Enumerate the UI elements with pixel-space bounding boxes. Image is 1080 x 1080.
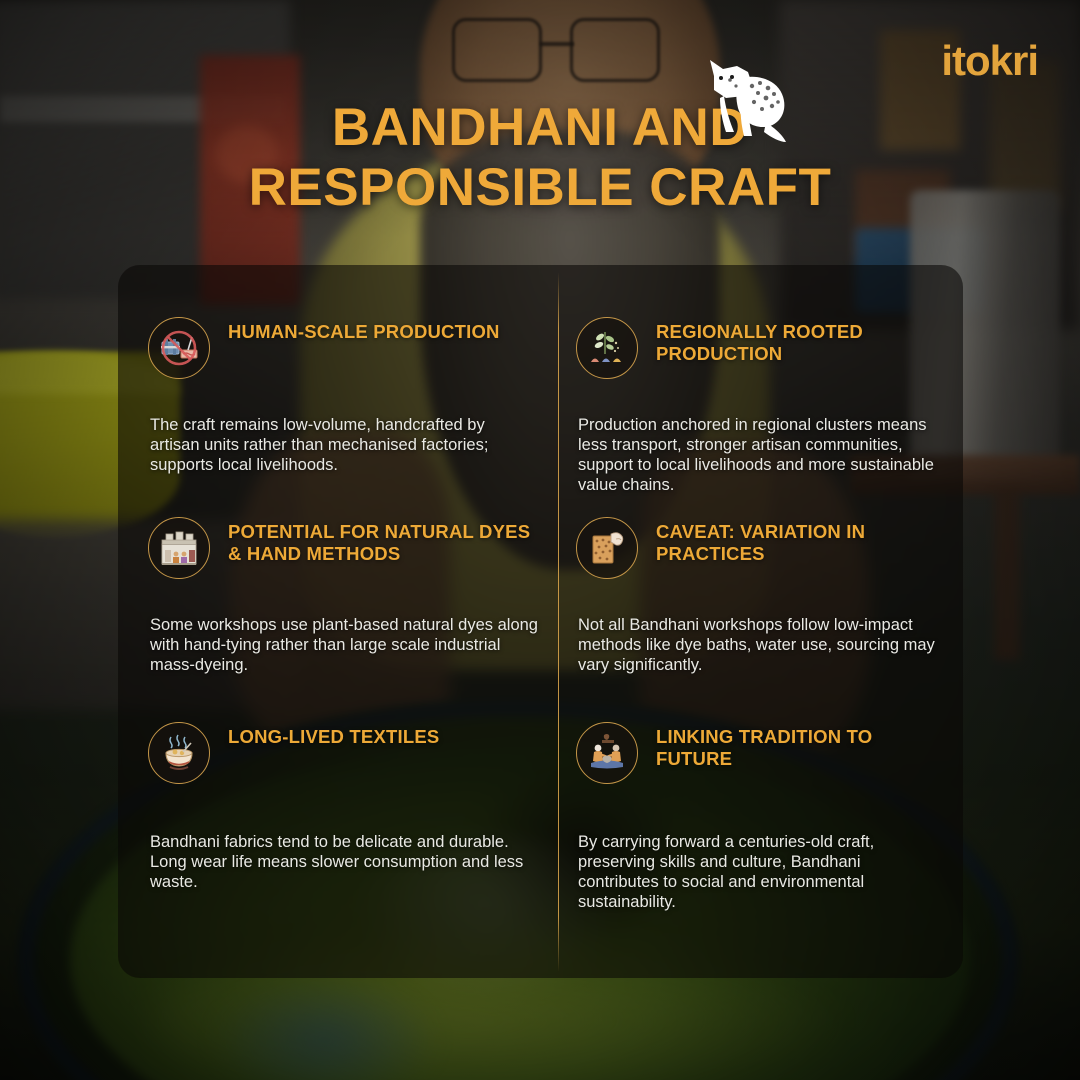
card-body: Some workshops use plant-based natural d… [150, 615, 538, 675]
benefits-grid: HUMAN-SCALE PRODUCTION The craft remains… [118, 265, 963, 978]
steaming-dye-pot-icon [148, 722, 210, 784]
card-header: POTENTIAL FOR NATURAL DYES & HAND METHOD… [148, 515, 538, 579]
itokri-logo-text: itokri [941, 40, 1038, 82]
card-title: CAVEAT: VARIATION IN PRACTICES [656, 515, 941, 565]
page-title: BANDHANI AND RESPONSIBLE CRAFT [0, 98, 1080, 218]
card-header: HUMAN-SCALE PRODUCTION [148, 315, 538, 379]
title-line-1: BANDHANI AND [0, 98, 1080, 158]
card-regionally-rooted-production: REGIONALLY ROOTED PRODUCTION Production … [558, 265, 963, 465]
itokri-logo[interactable]: itokri [941, 40, 1038, 82]
card-body: Bandhani fabrics tend to be delicate and… [150, 832, 538, 892]
card-header: CAVEAT: VARIATION IN PRACTICES [576, 515, 941, 579]
card-body: Not all Bandhani workshops follow low-im… [578, 615, 941, 675]
card-caveat-variation-in-practices: CAVEAT: VARIATION IN PRACTICES Not all B… [558, 465, 963, 670]
card-header: LINKING TRADITION TO FUTURE [576, 720, 941, 784]
card-linking-tradition-to-future: LINKING TRADITION TO FUTURE By carrying … [558, 670, 963, 978]
card-title: LINKING TRADITION TO FUTURE [656, 720, 941, 770]
natural-dye-leaves-powder-icon [576, 317, 638, 379]
card-title: REGIONALLY ROOTED PRODUCTION [656, 315, 941, 365]
card-long-lived-textiles: LONG-LIVED TEXTILES Bandhani fabrics ten… [118, 670, 558, 978]
card-header: LONG-LIVED TEXTILES [148, 720, 538, 784]
artisan-workshop-building-icon [148, 517, 210, 579]
card-natural-dyes-hand-methods: POTENTIAL FOR NATURAL DYES & HAND METHOD… [118, 465, 558, 670]
card-body: By carrying forward a centuries-old craf… [578, 832, 941, 912]
card-title: POTENTIAL FOR NATURAL DYES & HAND METHOD… [228, 515, 538, 565]
card-header: REGIONALLY ROOTED PRODUCTION [576, 315, 941, 379]
two-artisans-sharing-craft-icon [576, 722, 638, 784]
title-line-2: RESPONSIBLE CRAFT [0, 158, 1080, 218]
card-title: LONG-LIVED TEXTILES [228, 720, 439, 748]
white-cat-icon [690, 52, 800, 147]
card-human-scale-production: HUMAN-SCALE PRODUCTION The craft remains… [118, 265, 558, 465]
hand-holding-patterned-fabric-icon [576, 517, 638, 579]
no-factory-machine-icon [148, 317, 210, 379]
card-title: HUMAN-SCALE PRODUCTION [228, 315, 500, 343]
